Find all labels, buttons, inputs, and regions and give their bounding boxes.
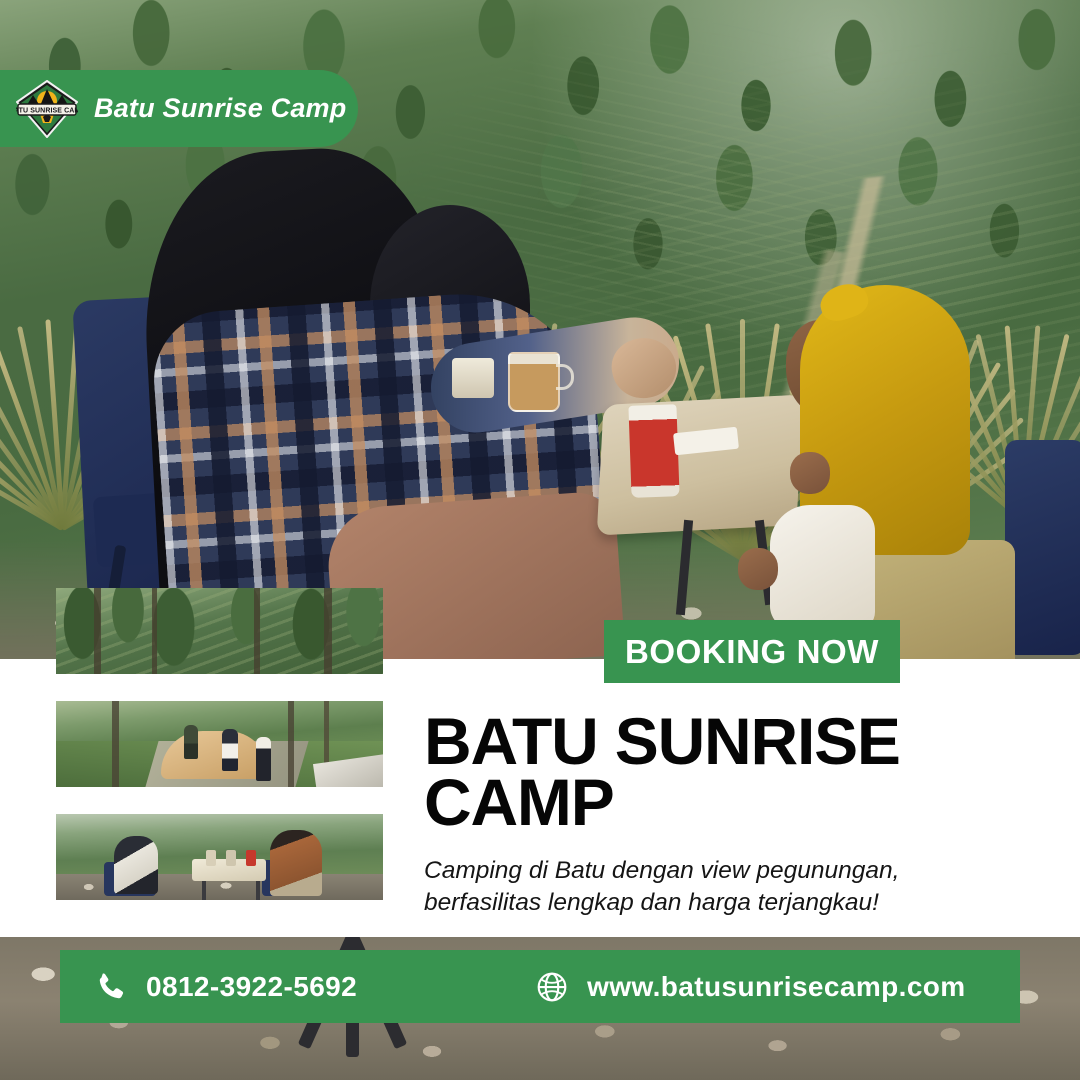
- gallery-thumbnail-forest-valley[interactable]: [56, 588, 383, 674]
- tagline: Camping di Batu dengan view pegunungan, …: [424, 855, 984, 920]
- brand-logo-pill[interactable]: BATU SUNRISE CAMP Batu Sunrise Camp: [0, 70, 358, 147]
- page-title-line-1: BATU SUNRISE: [424, 711, 900, 772]
- page-title: BATU SUNRISE CAMP: [424, 711, 900, 834]
- white-cup: [452, 358, 494, 398]
- contact-phone[interactable]: 0812-3922-5692: [94, 970, 357, 1004]
- website-url-label: www.batusunrisecamp.com: [587, 971, 965, 1003]
- tagline-line-2: berfasilitas lengkap dan harga terjangka…: [424, 887, 984, 919]
- gallery-thumbnail-strip: [56, 588, 383, 900]
- contact-footer-bar: 0812-3922-5692 www.batusunrisecamp.com: [60, 950, 1020, 1023]
- camping-chair-right: [1005, 440, 1080, 655]
- svg-text:BATU SUNRISE CAMP: BATU SUNRISE CAMP: [16, 107, 78, 114]
- page-title-line-2: CAMP: [424, 772, 900, 833]
- child-hand-upper: [790, 452, 830, 494]
- gallery-thumbnail-tent-hillside[interactable]: [56, 701, 383, 787]
- contact-website[interactable]: www.batusunrisecamp.com: [535, 970, 965, 1004]
- glass-coffee-mug: [508, 352, 560, 412]
- gallery-thumbnail-campers-table[interactable]: [56, 814, 383, 900]
- booking-now-button[interactable]: BOOKING NOW: [604, 620, 900, 683]
- globe-icon: [535, 970, 569, 1004]
- tagline-line-1: Camping di Batu dengan view pegunungan,: [424, 855, 984, 887]
- child-white-sleeve: [770, 505, 875, 630]
- mountain-sunrise-badge-icon: BATU SUNRISE CAMP: [16, 80, 78, 138]
- phone-number-label: 0812-3922-5692: [146, 971, 357, 1003]
- phone-icon: [94, 970, 128, 1004]
- booking-now-label: BOOKING NOW: [625, 633, 879, 671]
- child-hand-lower: [738, 548, 778, 590]
- poster-canvas: BATU SUNRISE CAMP Batu Sunrise Camp BOOK…: [0, 0, 1080, 1080]
- brand-name-label: Batu Sunrise Camp: [94, 93, 346, 124]
- red-noodle-cup: [628, 404, 679, 498]
- folding-camp-table: [597, 394, 804, 535]
